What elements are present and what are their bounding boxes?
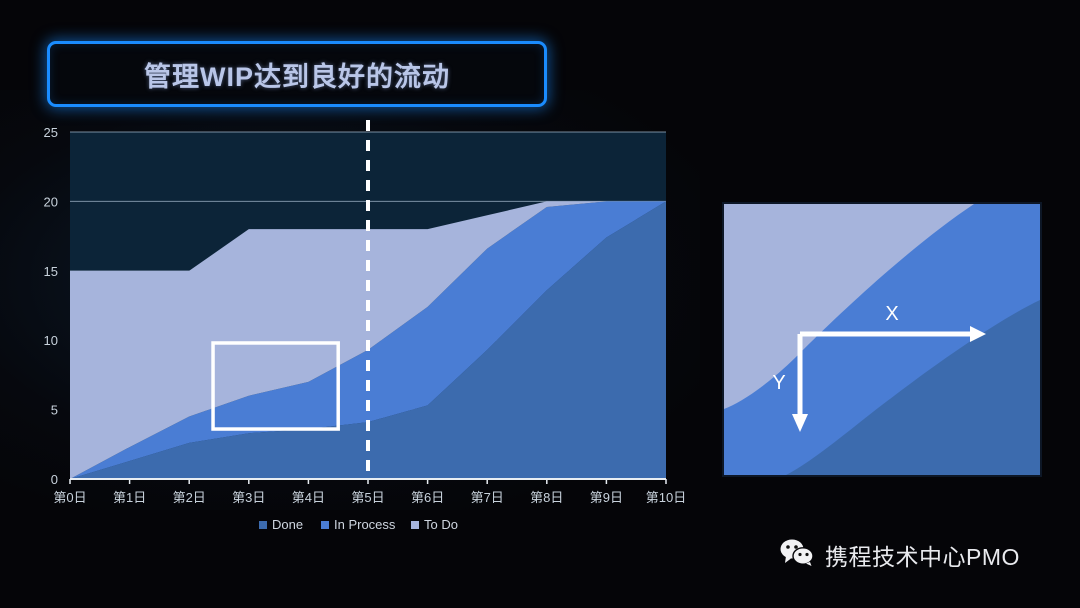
y-tick-label: 5 [51,403,58,418]
y-tick-label: 0 [51,472,58,487]
legend-label: To Do [424,517,458,532]
y-tick-label: 10 [44,333,58,348]
slide-title-box: 管理WIP达到良好的流动 [47,41,547,107]
zoom-inset-panel: XY [722,202,1042,477]
chart-legend: DoneIn ProcessTo Do [259,517,458,532]
x-tick-label: 第7日 [471,490,504,505]
y-tick-label: 15 [44,264,58,279]
x-tick-label: 第0日 [53,490,86,505]
wechat-icon [780,539,814,571]
x-tick-label: 第4日 [292,490,325,505]
x-tick-label: 第9日 [590,490,623,505]
x-tick-label: 第1日 [113,490,146,505]
legend-swatch [321,521,329,529]
legend-label: In Process [334,517,396,532]
legend-label: Done [272,517,303,532]
x-tick-label: 第8日 [530,490,563,505]
inset-x-label: X [885,303,898,325]
watermark: 携程技术中心PMO [780,538,1020,572]
page-title: 管理WIP达到良好的流动 [144,55,450,94]
y-tick-label: 25 [44,125,58,140]
x-tick-label: 第5日 [351,490,384,505]
inset-canvas: XY [724,204,1040,475]
cumulative-flow-chart: 0510152025第0日第1日第2日第3日第4日第5日第6日第7日第8日第9日… [0,110,710,550]
inset-y-label: Y [772,372,785,394]
x-tick-label: 第10日 [646,490,686,505]
y-tick-label: 20 [44,194,58,209]
legend-swatch [259,521,267,529]
x-tick-label: 第3日 [232,490,265,505]
x-tick-label: 第6日 [411,490,444,505]
x-tick-label: 第2日 [173,490,206,505]
watermark-label: 携程技术中心PMO [825,538,1020,572]
legend-swatch [411,521,419,529]
chart-canvas: 0510152025第0日第1日第2日第3日第4日第5日第6日第7日第8日第9日… [0,110,710,550]
